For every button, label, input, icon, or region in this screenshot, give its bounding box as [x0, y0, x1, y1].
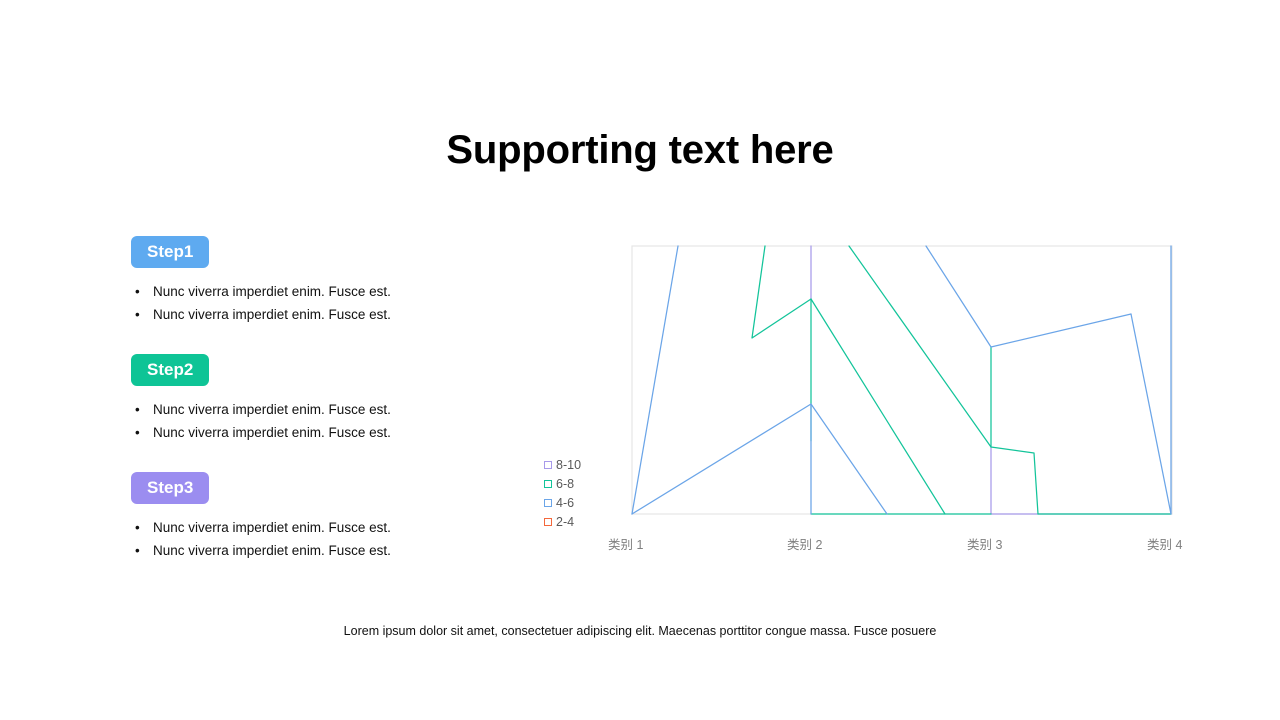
legend-label: 8-10	[556, 458, 581, 472]
step-block-1: Step1 •Nunc viverra imperdiet enim. Fusc…	[131, 236, 561, 326]
legend-label: 4-6	[556, 496, 574, 510]
legend-swatch-icon	[544, 518, 552, 526]
x-axis-label-4: 类别 4	[1147, 534, 1182, 553]
bullet-text: Nunc viverra imperdiet enim. Fusce est.	[153, 425, 391, 440]
bullet-dot-icon: •	[135, 281, 140, 304]
chart-legend: 8-10 6-8 4-6 2-4	[544, 455, 610, 531]
legend-label: 2-4	[556, 515, 574, 529]
bullet-text: Nunc viverra imperdiet enim. Fusce est.	[153, 543, 391, 558]
plot-border	[632, 246, 1172, 514]
legend-label: 6-8	[556, 477, 574, 491]
bullet-dot-icon: •	[135, 517, 140, 540]
legend-item-6-8[interactable]: 6-8	[544, 474, 610, 493]
bullet-text: Nunc viverra imperdiet enim. Fusce est.	[153, 307, 391, 322]
legend-item-4-6[interactable]: 4-6	[544, 493, 610, 512]
legend-item-8-10[interactable]: 8-10	[544, 455, 610, 474]
bullet-text: Nunc viverra imperdiet enim. Fusce est.	[153, 520, 391, 535]
legend-swatch-icon	[544, 461, 552, 469]
list-item: •Nunc viverra imperdiet enim. Fusce est.	[131, 422, 561, 445]
step-3-bullets: •Nunc viverra imperdiet enim. Fusce est.…	[131, 517, 561, 562]
legend-item-2-4[interactable]: 2-4	[544, 512, 610, 531]
page-title: Supporting text here	[0, 126, 1280, 174]
list-item: •Nunc viverra imperdiet enim. Fusce est.	[131, 517, 561, 540]
x-axis-label-1: 类别 1	[608, 534, 643, 553]
x-axis-label-2: 类别 2	[787, 534, 822, 553]
step-badge-1[interactable]: Step1	[131, 236, 209, 268]
steps-list: Step1 •Nunc viverra imperdiet enim. Fusc…	[131, 236, 561, 590]
list-item: •Nunc viverra imperdiet enim. Fusce est.	[131, 399, 561, 422]
step-badge-3[interactable]: Step3	[131, 472, 209, 504]
bullet-dot-icon: •	[135, 304, 140, 327]
bullet-dot-icon: •	[135, 422, 140, 445]
bullet-dot-icon: •	[135, 540, 140, 563]
legend-swatch-icon	[544, 499, 552, 507]
bullet-text: Nunc viverra imperdiet enim. Fusce est.	[153, 402, 391, 417]
step-2-bullets: •Nunc viverra imperdiet enim. Fusce est.…	[131, 399, 561, 444]
legend-swatch-icon	[544, 480, 552, 488]
list-item: •Nunc viverra imperdiet enim. Fusce est.	[131, 304, 561, 327]
step-1-bullets: •Nunc viverra imperdiet enim. Fusce est.…	[131, 281, 561, 326]
step-badge-2[interactable]: Step2	[131, 354, 209, 386]
contour-chart: 8-10 6-8 4-6 2-4 类别 1 类别 2 类别 3 类别 4	[535, 240, 1195, 560]
list-item: •Nunc viverra imperdiet enim. Fusce est.	[131, 281, 561, 304]
step-block-2: Step2 •Nunc viverra imperdiet enim. Fusc…	[131, 354, 561, 444]
list-item: •Nunc viverra imperdiet enim. Fusce est.	[131, 540, 561, 563]
step-block-3: Step3 •Nunc viverra imperdiet enim. Fusc…	[131, 472, 561, 562]
bullet-dot-icon: •	[135, 399, 140, 422]
footer-caption: Lorem ipsum dolor sit amet, consectetuer…	[0, 622, 1280, 640]
x-axis-label-3: 类别 3	[967, 534, 1002, 553]
chart-plot-svg	[535, 240, 1195, 540]
bullet-text: Nunc viverra imperdiet enim. Fusce est.	[153, 284, 391, 299]
